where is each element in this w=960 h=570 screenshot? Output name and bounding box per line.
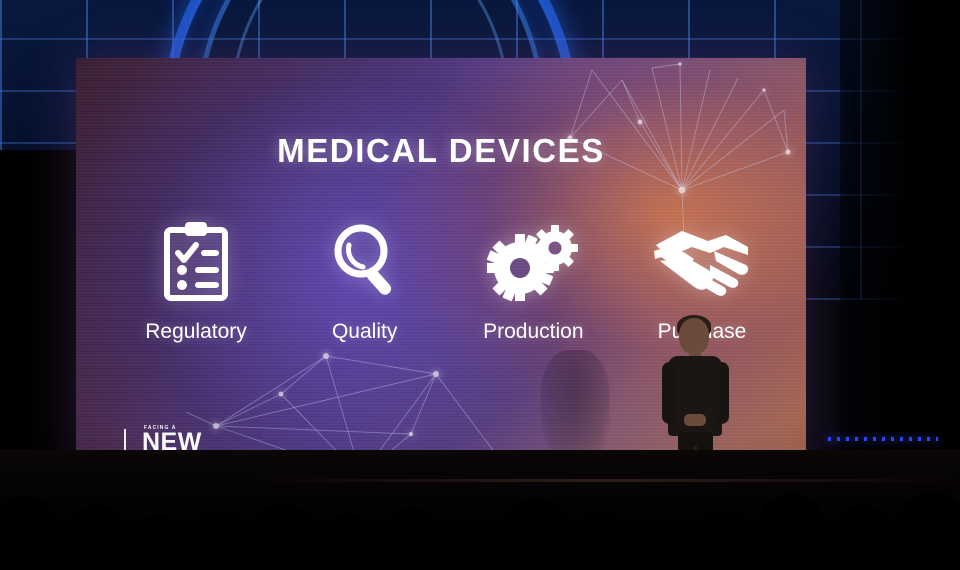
audience-head: [636, 522, 692, 570]
slide-item-regulatory: Regulatory: [116, 218, 276, 344]
audience-head: [318, 514, 378, 570]
audience-head: [250, 504, 316, 570]
slide-item-label: Production: [453, 320, 613, 344]
stage-room: MEDICAL DEVICES: [0, 0, 960, 540]
audience-head: [830, 506, 896, 570]
speaker-arm-right: [714, 362, 729, 424]
slide-item-quality: Quality: [285, 218, 445, 344]
audience-head: [380, 508, 444, 570]
audience-silhouettes: [0, 430, 960, 540]
clipboard-checklist-icon: [116, 218, 276, 304]
slide-item-label: Regulatory: [116, 320, 276, 344]
slide-item-production: Production: [453, 218, 613, 344]
audience-head: [446, 518, 504, 570]
speaker-hands: [684, 414, 706, 426]
magnifying-glass-icon: [285, 218, 445, 304]
audience-head: [694, 510, 758, 570]
page-title: MEDICAL DEVICES: [76, 132, 806, 170]
audience-head: [0, 496, 60, 570]
audience-head: [572, 512, 632, 570]
speaker-arm-left: [662, 362, 677, 424]
slide-item-label: Quality: [285, 320, 445, 344]
audience-head: [128, 516, 186, 570]
audience-head: [186, 510, 248, 570]
gears-icon: [453, 218, 613, 304]
audience-head: [500, 498, 570, 570]
audience-head: [756, 494, 828, 570]
handshake-icon: [622, 218, 782, 304]
audience-head: [896, 492, 960, 570]
audience-head: [64, 506, 130, 570]
